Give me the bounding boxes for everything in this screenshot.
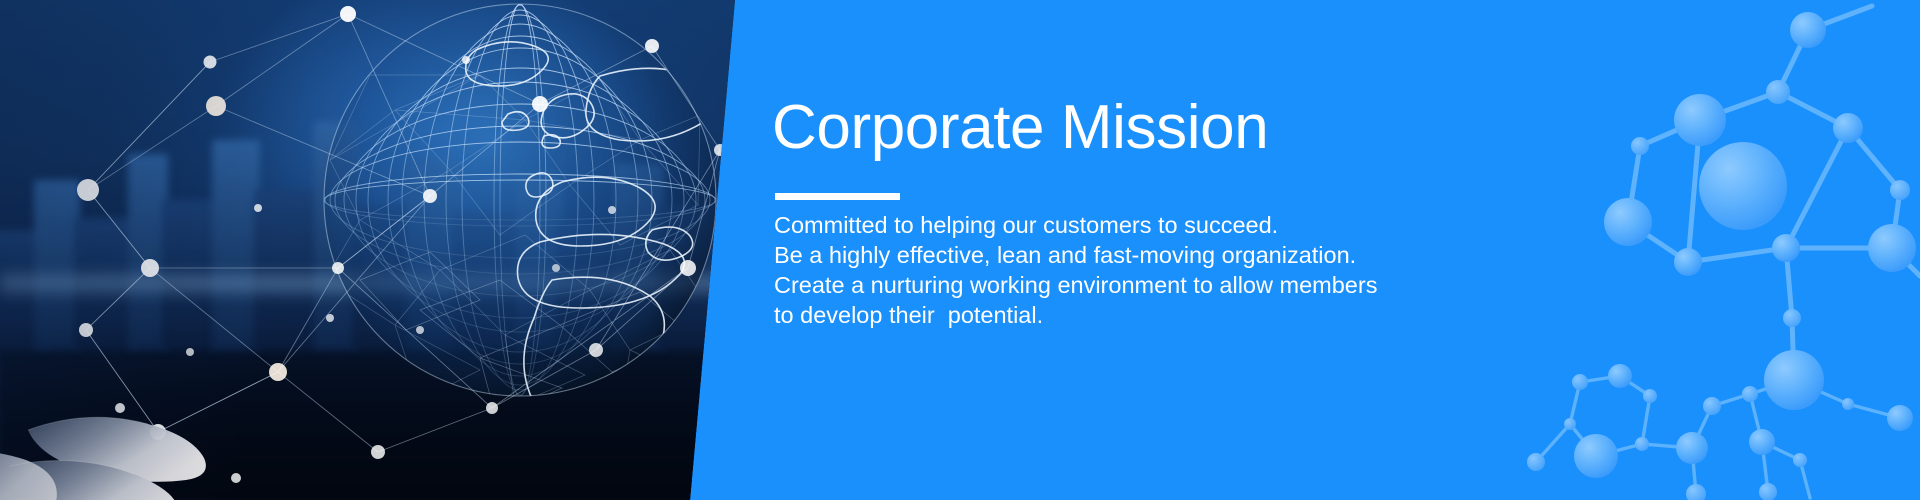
title-divider (775, 193, 900, 200)
human-hand (0, 280, 350, 500)
mission-line: Be a highly effective, lean and fast-mov… (774, 240, 1534, 270)
page-title: Corporate Mission (772, 95, 1268, 160)
mission-statement: Committed to helping our customers to su… (774, 210, 1534, 330)
banner-content: Corporate Mission Committed to helping o… (772, 0, 1672, 500)
mission-line: to develop their potential. (774, 300, 1534, 330)
mission-line: Create a nurturing working environment t… (774, 270, 1534, 300)
corporate-mission-banner: Corporate Mission Committed to helping o… (0, 0, 1920, 500)
globe-network-photo (0, 0, 760, 500)
mission-line: Committed to helping our customers to su… (774, 210, 1534, 240)
